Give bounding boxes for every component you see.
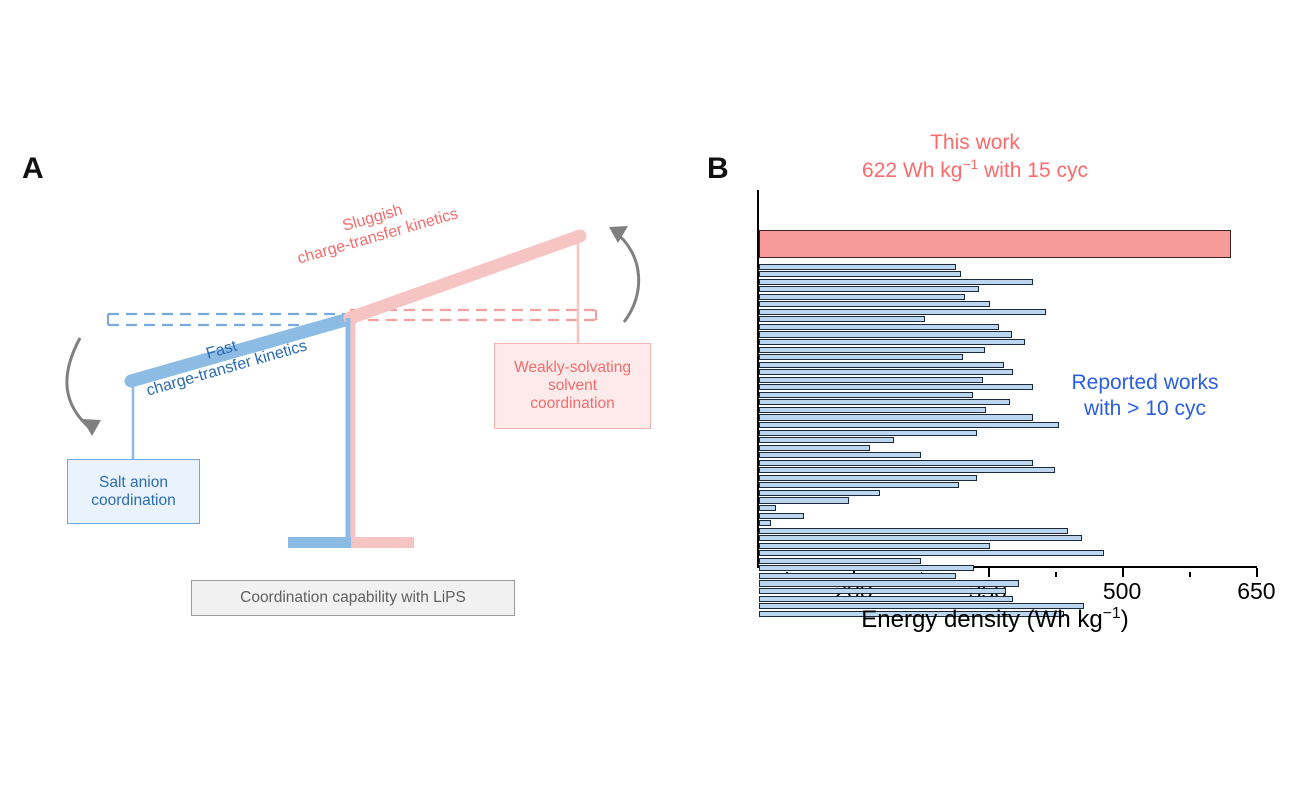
bar-reported-work: [759, 573, 956, 579]
bar-row: [759, 406, 1256, 414]
bar-row: [759, 497, 1256, 505]
bar-reported-work: [759, 437, 893, 443]
box-weak-line3: coordination: [530, 395, 614, 413]
base-plate-red: [351, 537, 414, 548]
panel-b: B This work 622 Wh kg−1 with 15 cyc Repo…: [690, 0, 1300, 800]
bar-row: [759, 542, 1256, 550]
bar-reported-work: [759, 550, 1104, 556]
bar-row: [759, 323, 1256, 331]
bar-reported-work: [759, 513, 804, 519]
caption-this-work-line2: 622 Wh kg−1 with 15 cyc: [740, 156, 1210, 184]
bar-row: [759, 286, 1256, 294]
box-salt-line2: coordination: [91, 492, 175, 510]
bar-reported-work: [759, 535, 1081, 541]
bar-reported-work: [759, 354, 962, 360]
bar-row: [759, 331, 1256, 339]
bar-reported-work: [759, 347, 985, 353]
bar-row: [759, 301, 1256, 309]
bar-reported-work: [759, 407, 986, 413]
bar-reported-work: [759, 414, 1032, 420]
caption-this-work: This work 622 Wh kg−1 with 15 cyc: [740, 130, 1210, 185]
bar-row: [759, 535, 1256, 543]
panel-b-letter: B: [707, 152, 729, 186]
x-tick-major: [1256, 568, 1258, 577]
bar-row: [759, 580, 1256, 588]
bar-row: [759, 391, 1256, 399]
bar-row: [759, 527, 1256, 535]
bar-row: [759, 505, 1256, 513]
bar-this-work: [759, 230, 1231, 258]
bar-row: [759, 467, 1256, 475]
bar-reported-work: [759, 369, 1012, 375]
bar-reported-work: [759, 279, 1032, 285]
bar-row: [759, 346, 1256, 354]
bar-reported-work: [759, 445, 869, 451]
x-axis-title: Energy density (Wh kg−1): [730, 605, 1260, 634]
bar-reported-work: [759, 377, 983, 383]
box-weakly-solvating-solvent-coordination: Weakly-solvating solvent coordination: [494, 343, 651, 429]
bar-row: [759, 557, 1256, 565]
panel-a: A Fast charge-transfer kinetics Sluggish: [0, 0, 660, 800]
bar-reported-work: [759, 324, 999, 330]
bar-row: [759, 308, 1256, 316]
bar-reported-work: [759, 497, 849, 503]
bar-reported-work: [759, 264, 956, 270]
bar-reported-work: [759, 596, 1012, 602]
bar-row: [759, 588, 1256, 596]
bar-reported-work: [759, 490, 880, 496]
bar-row: [759, 293, 1256, 301]
bar-row: [759, 452, 1256, 460]
bar-reported-work: [759, 565, 974, 571]
box-base-label: Coordination capability with LiPS: [240, 589, 466, 607]
x-axis-title-main: Energy density (Wh kg: [861, 606, 1102, 633]
bar-reported-work: [759, 422, 1059, 428]
caption-this-work-line1: This work: [740, 130, 1210, 156]
bar-reported-work: [759, 475, 977, 481]
bar-reported-work: [759, 271, 960, 277]
bar-reported-work: [759, 558, 920, 564]
bar-row: [759, 361, 1256, 369]
bar-reported-work: [759, 588, 1005, 594]
bar-reported-work: [759, 286, 978, 292]
right-curved-arrow: [614, 231, 639, 322]
bar-row: [759, 444, 1256, 452]
this-work-value: 622: [862, 159, 897, 182]
bar-row: [759, 437, 1256, 445]
bar-reported-work: [759, 362, 1003, 368]
bar-row: [759, 421, 1256, 429]
bar-reported-work: [759, 339, 1025, 345]
left-arrow-head: [82, 419, 101, 436]
bar-reported-work: [759, 460, 1032, 466]
bar-row: [759, 482, 1256, 490]
bar-reported-work: [759, 580, 1019, 586]
box-weak-line1: Weakly-solvating: [514, 359, 631, 377]
bar-reported-work: [759, 309, 1046, 315]
bar-reported-work: [759, 452, 920, 458]
bar-reported-work: [759, 543, 989, 549]
bar-row: [759, 429, 1256, 437]
bar-row: [759, 369, 1256, 377]
bar-reported-work: [759, 467, 1055, 473]
bar-row: [759, 550, 1256, 558]
bar-reported-work: [759, 301, 990, 307]
x-axis-title-exponent: −1: [1103, 605, 1121, 622]
bar-row: [759, 338, 1256, 346]
bar-row: [759, 414, 1256, 422]
left-curved-arrow: [67, 338, 92, 430]
bar-row: [759, 595, 1256, 603]
box-salt-anion-coordination: Salt anion coordination: [67, 459, 200, 524]
this-work-unit: Wh kg: [903, 159, 963, 182]
bar-row: [759, 271, 1256, 279]
red-beam: [350, 236, 580, 318]
bar-row: [759, 399, 1256, 407]
bar-row: [759, 278, 1256, 286]
box-coordination-capability: Coordination capability with LiPS: [191, 580, 515, 616]
bar-row: [759, 384, 1256, 392]
bar-row: [759, 572, 1256, 580]
bar-reported-work: [759, 430, 977, 436]
bar-reported-work: [759, 331, 1012, 337]
box-salt-line1: Salt anion: [99, 474, 168, 492]
box-weak-line2: solvent: [548, 377, 597, 395]
bar-row: [759, 459, 1256, 467]
bar-row: [759, 376, 1256, 384]
bar-reported-work: [759, 482, 959, 488]
bar-chart-plot-area: 200350500650: [757, 190, 1257, 568]
bar-reported-work: [759, 505, 775, 511]
bar-reported-work: [759, 392, 972, 398]
bar-reported-work: [759, 520, 771, 526]
bar-row: [759, 520, 1256, 528]
base-plate-blue: [288, 537, 351, 548]
bar-row: [759, 489, 1256, 497]
bar-reported-work: [759, 294, 965, 300]
bars-container: [759, 230, 1256, 618]
x-axis-title-close: ): [1121, 606, 1129, 633]
bar-row: [759, 512, 1256, 520]
bar-row: [759, 354, 1256, 362]
bar-row-this-work: [759, 230, 1256, 263]
bar-reported-work: [759, 528, 1068, 534]
bar-reported-work: [759, 399, 1010, 405]
bar-row: [759, 316, 1256, 324]
bar-row: [759, 263, 1256, 271]
bar-row: [759, 474, 1256, 482]
bar-reported-work: [759, 384, 1032, 390]
bar-reported-work: [759, 316, 925, 322]
this-work-tail: with 15 cyc: [978, 159, 1088, 182]
bar-row: [759, 565, 1256, 573]
this-work-exponent: −1: [962, 156, 978, 172]
